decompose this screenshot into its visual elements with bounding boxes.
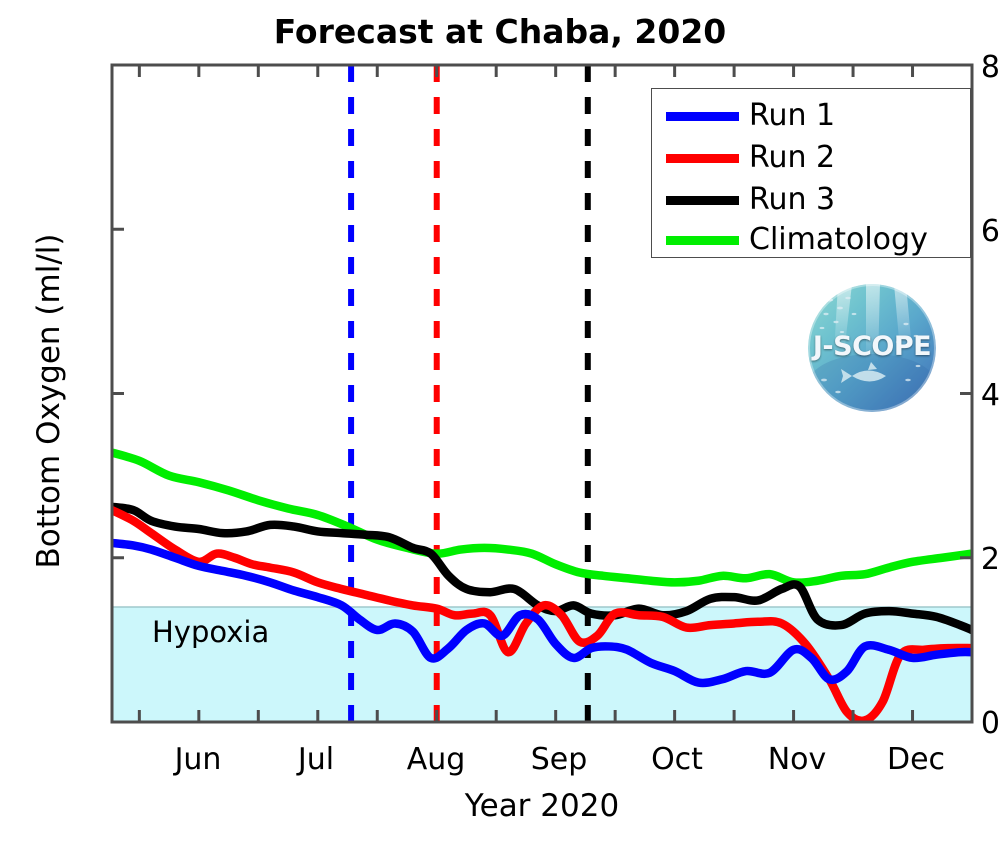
legend-item-climatology[interactable]: Climatology xyxy=(652,219,972,261)
legend-item-run-1[interactable]: Run 1 xyxy=(652,95,972,137)
chart-legend: Run 1 Run 2 Run 3 Climatology xyxy=(651,88,971,258)
legend-label-run-3: Run 3 xyxy=(749,185,835,215)
jscope-logo-text: J-SCOPE xyxy=(808,331,936,362)
hypoxia-region-label: Hypoxia xyxy=(152,615,269,649)
jscope-logo: J-SCOPE xyxy=(808,284,936,412)
legend-swatch-climatology xyxy=(666,236,739,245)
legend-item-run-3[interactable]: Run 3 xyxy=(652,179,972,221)
legend-label-run-2: Run 2 xyxy=(749,143,835,173)
legend-swatch-run-1 xyxy=(666,112,739,121)
legend-label-climatology: Climatology xyxy=(749,225,928,255)
chart-figure: Forecast at Chaba, 2020 Bottom Oxygen (m… xyxy=(0,0,1000,847)
legend-label-run-1: Run 1 xyxy=(749,101,835,131)
legend-item-run-2[interactable]: Run 2 xyxy=(652,137,972,179)
legend-swatch-run-3 xyxy=(666,196,739,205)
legend-swatch-run-2 xyxy=(666,154,739,163)
